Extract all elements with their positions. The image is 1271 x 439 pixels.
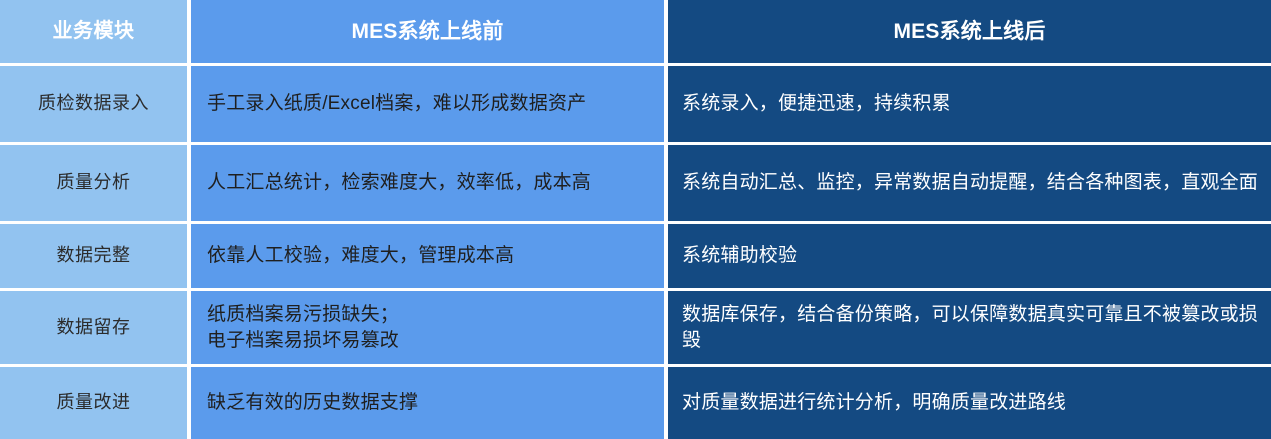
row-after-cell: 系统自动汇总、监控，异常数据自动提醒，结合各种图表，直观全面 — [668, 145, 1271, 221]
row-before-text: 缺乏有效的历史数据支撑 — [207, 390, 418, 415]
row-module-cell: 质量改进 — [0, 367, 191, 439]
row-after-cell: 数据库保存，结合备份策略，可以保障数据真实可靠且不被篡改或损毁 — [668, 291, 1271, 364]
row-before-text: 人工汇总统计，检索难度大，效率低，成本高 — [207, 170, 591, 195]
row-module-label: 数据完整 — [57, 244, 131, 268]
row-after-text: 系统辅助校验 — [682, 243, 797, 268]
row-before-cell: 人工汇总统计，检索难度大，效率低，成本高 — [191, 145, 668, 221]
row-module-cell: 数据完整 — [0, 224, 191, 288]
header-cell-after: MES系统上线后 — [668, 0, 1271, 63]
row-after-text: 系统录入，便捷迅速，持续积累 — [682, 91, 951, 116]
header-label-module: 业务模块 — [53, 18, 135, 45]
row-after-cell: 系统录入，便捷迅速，持续积累 — [668, 66, 1271, 142]
row-after-text: 对质量数据进行统计分析，明确质量改进路线 — [682, 390, 1066, 415]
row-module-cell: 质量分析 — [0, 145, 191, 221]
header-cell-before: MES系统上线前 — [191, 0, 668, 63]
table-row: 质量分析 人工汇总统计，检索难度大，效率低，成本高 系统自动汇总、监控，异常数据… — [0, 145, 1271, 224]
table-header-row: 业务模块 MES系统上线前 MES系统上线后 — [0, 0, 1271, 66]
table-row: 数据完整 依靠人工校验，难度大，管理成本高 系统辅助校验 — [0, 224, 1271, 291]
row-after-text: 数据库保存，结合备份策略，可以保障数据真实可靠且不被篡改或损毁 — [682, 302, 1271, 353]
row-before-text: 依靠人工校验，难度大，管理成本高 — [207, 243, 514, 268]
row-after-text: 系统自动汇总、监控，异常数据自动提醒，结合各种图表，直观全面 — [682, 170, 1258, 195]
row-module-cell: 数据留存 — [0, 291, 191, 364]
row-after-cell: 系统辅助校验 — [668, 224, 1271, 288]
header-label-before: MES系统上线前 — [351, 18, 503, 46]
header-label-after: MES系统上线后 — [893, 18, 1045, 46]
row-module-label: 质量分析 — [57, 171, 131, 195]
row-before-text: 纸质档案易污损缺失； 电子档案易损坏易篡改 — [207, 302, 399, 353]
comparison-table: 业务模块 MES系统上线前 MES系统上线后 质检数据录入 手工录入纸质/Exc… — [0, 0, 1271, 439]
row-before-cell: 依靠人工校验，难度大，管理成本高 — [191, 224, 668, 288]
table-row: 数据留存 纸质档案易污损缺失； 电子档案易损坏易篡改 数据库保存，结合备份策略，… — [0, 291, 1271, 367]
row-module-label: 数据留存 — [57, 316, 131, 340]
row-module-label: 质检数据录入 — [38, 92, 149, 116]
table-row: 质检数据录入 手工录入纸质/Excel档案，难以形成数据资产 系统录入，便捷迅速… — [0, 66, 1271, 145]
header-cell-module: 业务模块 — [0, 0, 191, 63]
row-before-cell: 缺乏有效的历史数据支撑 — [191, 367, 668, 439]
row-before-text: 手工录入纸质/Excel档案，难以形成数据资产 — [207, 91, 586, 116]
row-after-cell: 对质量数据进行统计分析，明确质量改进路线 — [668, 367, 1271, 439]
row-before-cell: 纸质档案易污损缺失； 电子档案易损坏易篡改 — [191, 291, 668, 364]
row-before-cell: 手工录入纸质/Excel档案，难以形成数据资产 — [191, 66, 668, 142]
row-module-label: 质量改进 — [57, 391, 131, 415]
row-module-cell: 质检数据录入 — [0, 66, 191, 142]
table-row: 质量改进 缺乏有效的历史数据支撑 对质量数据进行统计分析，明确质量改进路线 — [0, 367, 1271, 439]
